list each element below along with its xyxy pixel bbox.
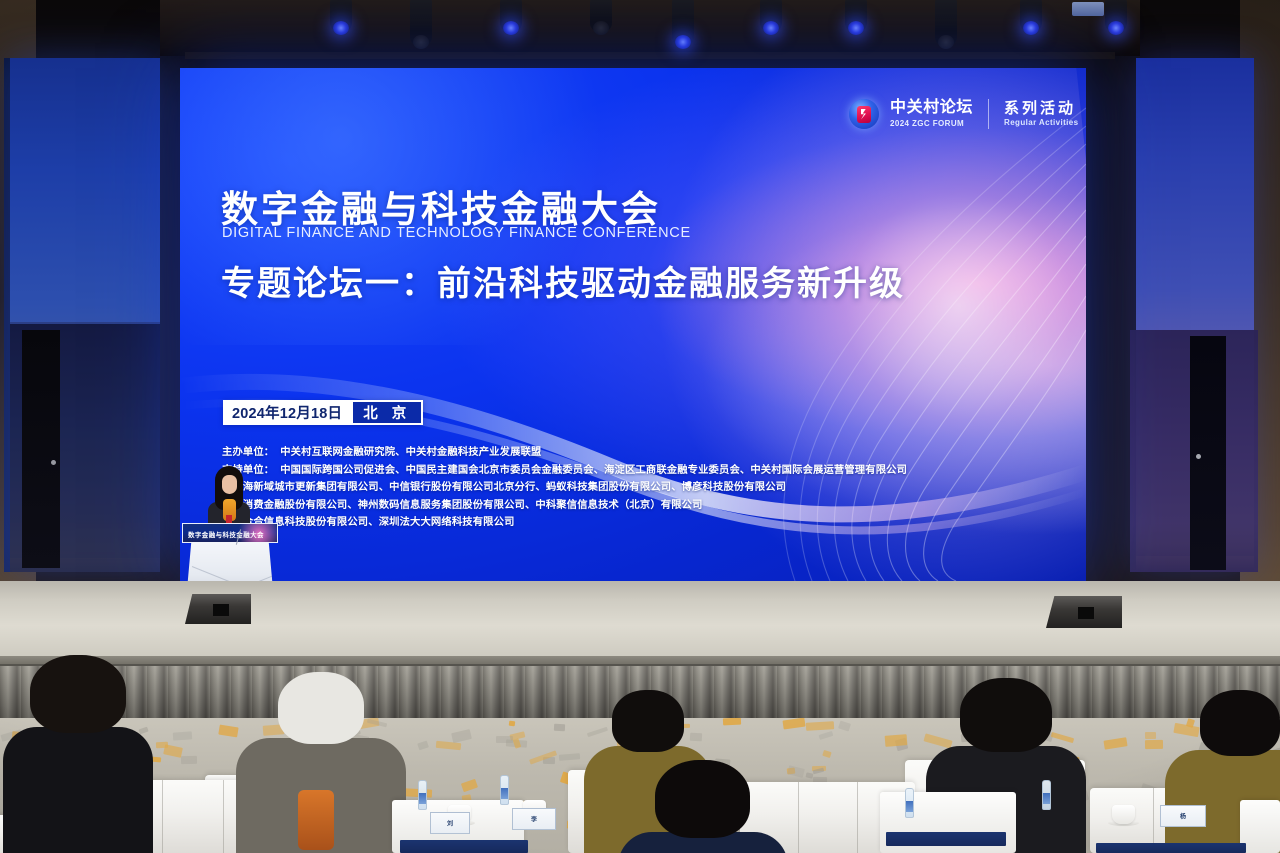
carpet-pattern-mark <box>1173 722 1199 737</box>
carpet-pattern-mark <box>806 721 834 731</box>
carpet-pattern-mark <box>1104 738 1128 750</box>
organizer-line: 北京海新域城市更新集团有限公司、中信银行股份有限公司北京分行、蚂蚁科技集团股份有… <box>222 479 1042 497</box>
stage-monitor-left <box>185 594 251 624</box>
light-beam-icon <box>503 21 519 35</box>
logo-series-cn: 系列活动 <box>1004 101 1078 117</box>
carpet-pattern-mark <box>787 765 804 777</box>
stage-light-fixture <box>845 0 867 32</box>
program-card <box>1096 843 1246 853</box>
light-beam-icon <box>938 35 954 49</box>
forum-session-title: 专题论坛一：前沿科技驱动金融服务新升级 <box>221 256 905 305</box>
organizer-line: 上海合合信息科技股份有限公司、深圳法大大网络科技有限公司 <box>222 514 1042 532</box>
name-card-text: 杨 <box>1180 812 1186 821</box>
carpet-pattern-mark <box>495 736 512 743</box>
organizer-text: 北京海新域城市更新集团有限公司、中信银行股份有限公司北京分行、蚂蚁科技集团股份有… <box>222 482 786 493</box>
light-beam-icon <box>413 35 429 49</box>
carpet-pattern-mark <box>218 724 239 737</box>
light-beam-icon <box>763 21 779 35</box>
carpet-pattern-mark <box>558 754 580 762</box>
carpet-pattern-mark <box>813 768 824 775</box>
logo-name-cn: 中关村论坛 <box>890 100 973 117</box>
sofa-seam <box>162 780 163 853</box>
stage-light-fixture <box>935 0 957 46</box>
water-bottle <box>1042 780 1051 810</box>
led-screen: 中关村论坛 2024 ZGC FORUM 系列活动 Regular Activi… <box>180 68 1086 581</box>
light-beam-icon <box>848 21 864 35</box>
sofa-seam <box>798 782 799 853</box>
logo-series-en: Regular Activities <box>1004 118 1078 127</box>
person-head <box>278 672 364 744</box>
carpet-pattern-mark <box>508 720 515 726</box>
podium-banner-text: 数字金融与科技金融大会 <box>188 529 264 539</box>
carpet-pattern-mark <box>163 744 183 758</box>
organizer-label: 主办单位： <box>222 447 274 458</box>
carpet-pattern-mark <box>689 733 701 741</box>
carpet-pattern-mark <box>822 750 831 758</box>
person-head <box>960 678 1052 752</box>
carpet-pattern-mark <box>885 735 908 747</box>
person-head <box>1200 690 1280 756</box>
program-card <box>886 832 1006 846</box>
person-head <box>612 690 684 752</box>
organizer-line: 主办单位：中关村互联网金融研究院、中关村金融科技产业发展联盟 <box>222 444 1042 462</box>
scarf <box>298 790 334 850</box>
organizer-line: 支持单位：中国国际跨国公司促进会、中国民主建国会北京市委员会金融委员会、海淀区工… <box>222 462 1042 480</box>
carpet-pattern-mark <box>805 773 813 779</box>
stage-light-fixture <box>1105 0 1127 32</box>
carpet-pattern-mark <box>436 741 462 750</box>
name-card: 杨 <box>1160 805 1206 827</box>
carpet-pattern-mark <box>586 727 607 738</box>
light-beam-icon <box>1023 21 1039 35</box>
light-beam-icon <box>1108 21 1124 35</box>
logo-name-en: 2024 ZGC FORUM <box>890 119 973 128</box>
carpet-pattern-mark <box>1145 739 1164 748</box>
name-card: 李 <box>512 808 556 830</box>
stage-light-fixture <box>330 0 352 32</box>
carpet-pattern-mark <box>138 727 148 734</box>
badge-city: 北 京 <box>351 400 423 425</box>
carpet-pattern-mark <box>173 731 192 741</box>
light-beam-icon <box>593 21 609 35</box>
carpet-pattern-mark <box>783 718 806 729</box>
carpet-pattern-mark <box>461 779 478 793</box>
carpet-pattern-mark <box>819 731 834 740</box>
stage-light-fixture <box>500 0 522 32</box>
stage-light-fixture <box>1020 0 1042 32</box>
ceiling-monitor <box>1072 2 1104 16</box>
organizer-text: 马上消费金融股份有限公司、神州数码信息服务集团股份有限公司、中科聚信信息技术（北… <box>222 500 703 511</box>
program-card <box>400 840 528 853</box>
side-door-right <box>1190 336 1226 570</box>
badge-date: 2024年12月18日 <box>223 400 351 425</box>
carpet-pattern-mark <box>181 756 197 764</box>
conference-title-en: DIGITAL FINANCE AND TECHNOLOGY FINANCE C… <box>222 225 691 241</box>
carpet-pattern-mark <box>553 723 565 731</box>
water-bottle <box>418 780 427 810</box>
water-bottle <box>500 775 509 805</box>
date-location-badge: 2024年12月18日 北 京 <box>223 400 423 425</box>
conference-stage-photo: 中关村论坛 2024 ZGC FORUM 系列活动 Regular Activi… <box>0 0 1280 853</box>
carpet-pattern-mark <box>1050 732 1073 743</box>
carpet-pattern-mark <box>923 733 952 749</box>
water-bottle <box>905 788 914 818</box>
stage-light-fixture <box>410 0 432 46</box>
carpet-pattern-mark <box>418 740 429 749</box>
person-body <box>3 727 153 853</box>
zgc-emblem-icon <box>849 99 879 129</box>
light-beam-icon <box>675 35 691 49</box>
carpet-pattern-mark <box>838 720 851 731</box>
podium-banner: 数字金融与科技金融大会 <box>182 523 278 543</box>
light-beam-icon <box>333 21 349 35</box>
stage-light-fixture <box>760 0 782 32</box>
stage-light-fixture <box>672 0 694 46</box>
stage-monitor-right <box>1046 596 1122 628</box>
name-card-text: 刘 <box>447 819 453 828</box>
truss-bar <box>185 52 1115 59</box>
carpet-pattern-mark <box>1145 732 1156 739</box>
side-door-left <box>22 330 60 568</box>
lighting-truss <box>160 0 1140 56</box>
sofa-seam <box>857 782 858 853</box>
name-card: 刘 <box>430 812 470 834</box>
organizer-text: 中国国际跨国公司促进会、中国民主建国会北京市委员会金融委员会、海淀区工商联金融专… <box>280 465 907 476</box>
tea-cup <box>1112 805 1135 824</box>
organizer-list: 主办单位：中关村互联网金融研究院、中关村金融科技产业发展联盟支持单位：中国国际跨… <box>222 444 1042 532</box>
carpet-pattern-mark <box>451 729 472 743</box>
person-head <box>655 760 750 838</box>
person-head <box>30 655 126 733</box>
side-table <box>1240 800 1280 853</box>
zgc-forum-logo: 中关村论坛 2024 ZGC FORUM 系列活动 Regular Activi… <box>849 99 1079 129</box>
name-card-text: 李 <box>531 815 537 824</box>
carpet-pattern-mark <box>723 718 741 726</box>
organizer-text: 中关村互联网金融研究院、中关村金融科技产业发展联盟 <box>280 447 541 458</box>
organizer-line: 马上消费金融股份有限公司、神州数码信息服务集团股份有限公司、中科聚信信息技术（北… <box>222 497 1042 515</box>
stage-light-fixture <box>590 0 612 32</box>
sofa-seam <box>223 780 224 853</box>
logo-divider <box>988 99 989 129</box>
